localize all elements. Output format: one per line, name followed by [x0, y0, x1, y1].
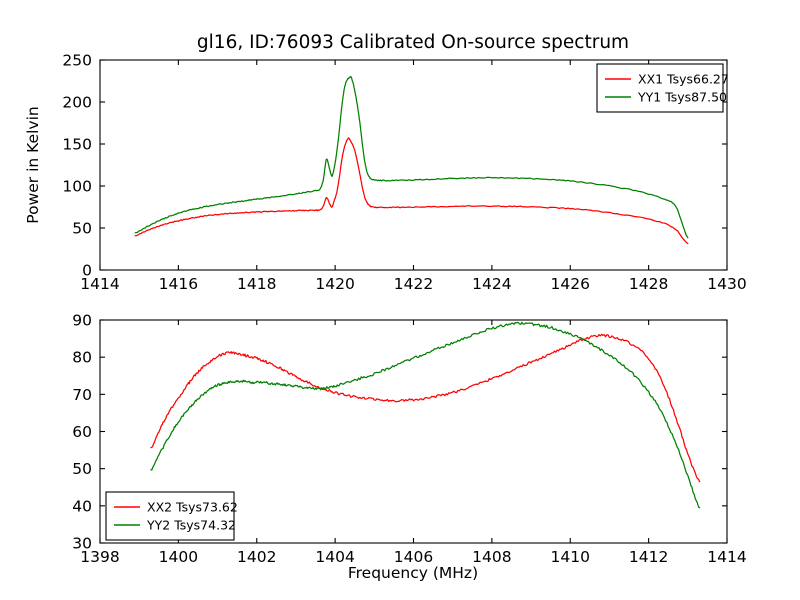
top-y-ticklabel: 200: [62, 94, 92, 112]
top-x-ticklabel: 1430: [707, 275, 746, 293]
top-x-ticklabel: 1418: [237, 275, 276, 293]
top-panel: gl16, ID:76093 Calibrated On-source spec…: [24, 32, 747, 293]
top-y-ticklabel: 150: [62, 136, 92, 154]
page-title: gl16, ID:76093 Calibrated On-source spec…: [197, 32, 629, 53]
bottom-y-ticklabel: 90: [72, 312, 92, 330]
bottom-y-ticklabel: 60: [72, 423, 92, 441]
top-legend-label: XX1 Tsys66.27: [638, 72, 729, 87]
top-x-ticklabel: 1426: [551, 275, 590, 293]
bottom-y-ticklabel: 70: [72, 386, 92, 404]
bottom-x-ticklabel: 1412: [629, 548, 668, 566]
top-y-ticklabel: 100: [62, 178, 92, 196]
top-y-axis-title: Power in Kelvin: [24, 106, 42, 223]
bottom-y-ticklabel: 40: [72, 497, 92, 515]
top-x-ticklabel: 1428: [629, 275, 668, 293]
top-x-ticklabel: 1420: [315, 275, 354, 293]
bottom-legend[interactable]: XX2 Tsys73.62YY2 Tsys74.32: [106, 492, 238, 540]
figure-canvas: gl16, ID:76093 Calibrated On-source spec…: [0, 0, 800, 600]
top-legend[interactable]: XX1 Tsys66.27YY1 Tsys87.50: [597, 64, 729, 112]
bottom-x-ticklabel: 1410: [551, 548, 590, 566]
bottom-x-ticklabel: 1402: [237, 548, 276, 566]
bottom-y-ticklabel: 50: [72, 460, 92, 478]
top-x-ticklabel: 1422: [394, 275, 433, 293]
bottom-x-ticklabel: 1414: [707, 548, 746, 566]
top-y-ticklabel: 0: [82, 262, 92, 280]
matplotlib-figure: gl16, ID:76093 Calibrated On-source spec…: [0, 0, 800, 600]
bottom-x-axis-title: Frequency (MHz): [348, 564, 478, 582]
top-x-ticklabel: 1424: [472, 275, 511, 293]
top-legend-label: YY1 Tsys87.50: [637, 90, 727, 105]
bottom-y-ticklabel: 80: [72, 349, 92, 367]
top-y-ticklabel: 50: [72, 220, 92, 238]
bottom-panel: 1398140014021404140614081410141214143040…: [72, 312, 746, 583]
bottom-y-ticklabel: 30: [72, 535, 92, 553]
bottom-x-ticklabel: 1400: [159, 548, 198, 566]
top-y-ticklabel: 250: [62, 52, 92, 70]
bottom-legend-label: XX2 Tsys73.62: [147, 500, 238, 515]
bottom-legend-label: YY2 Tsys74.32: [146, 518, 236, 533]
top-x-ticklabel: 1416: [159, 275, 198, 293]
